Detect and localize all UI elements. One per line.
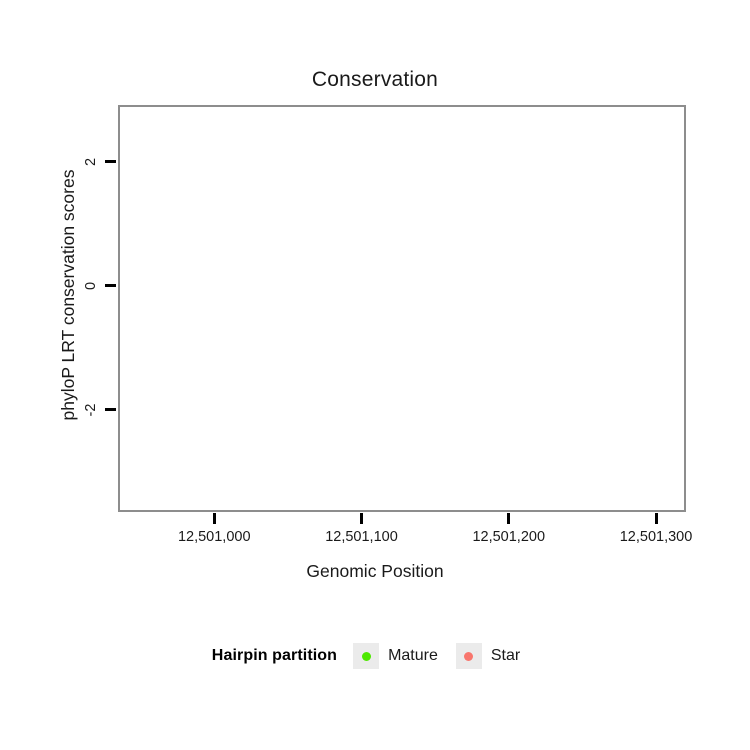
legend-item-star[interactable]: Star [456,643,520,669]
series-mature [460,189,515,349]
y-tick-mark [105,284,116,287]
y-tick-mark [105,160,116,163]
x-tick-mark [360,513,363,524]
legend-label: Mature [388,647,438,665]
x-tick-mark [655,513,658,524]
scatter-plot-canvas [120,107,684,510]
legend-title: Hairpin partition [212,647,337,665]
legend-swatch-star-icon [456,643,482,669]
page-title: Conservation [0,68,750,92]
legend-keys: MatureStar [353,643,538,669]
y-tick-label: -2 [83,401,99,419]
x-tick-label: 12,501,300 [620,529,693,545]
legend: Hairpin partition MatureStar [0,643,750,669]
chart-root: Conservation 12,501,00012,501,10012,501,… [0,0,750,750]
x-tick-mark [507,513,510,524]
plot-panel [118,105,686,512]
x-tick-label: 12,501,000 [178,529,251,545]
plot-panel-inner [120,107,684,510]
x-axis-title: Genomic Position [0,561,750,582]
legend-label: Star [491,647,520,665]
legend-swatch-mature-icon [353,643,379,669]
y-tick-label: 2 [83,153,99,171]
x-tick-label: 12,501,100 [325,529,398,545]
x-tick-mark [213,513,216,524]
y-tick-mark [105,408,116,411]
y-tick-label: 0 [83,277,99,295]
x-tick-label: 12,501,200 [472,529,545,545]
y-axis-title: phyloP LRT conservation scores [58,85,79,505]
legend-item-mature[interactable]: Mature [353,643,438,669]
